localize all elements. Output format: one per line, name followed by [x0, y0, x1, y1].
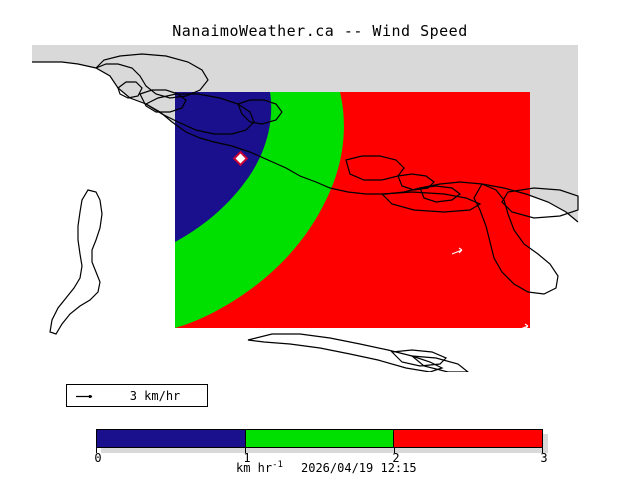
- timestamp-label: 2026/04/19 12:15: [301, 461, 417, 475]
- colorbar[interactable]: [96, 429, 543, 448]
- map-canvas[interactable]: [0, 42, 640, 372]
- map-svg: [0, 42, 640, 372]
- colorbar-units-exponent: -1: [272, 460, 283, 470]
- weather-map-page: NanaimoWeather.ca -- Wind Speed: [0, 0, 640, 480]
- vector-key-box: 3 km/hr: [66, 384, 208, 407]
- vector-key-label: 3 km/hr: [67, 389, 209, 403]
- colorbar-cell-1-2[interactable]: [246, 430, 394, 447]
- colorbar-tick-label-0: 0: [94, 451, 101, 465]
- colorbar-units-label: km hr-1: [236, 461, 283, 475]
- wind-speed-shading: [175, 92, 530, 328]
- colorbar-cell-2-3[interactable]: [394, 430, 542, 447]
- colorbar-units-text: km hr: [236, 461, 272, 475]
- colorbar-cell-0-1[interactable]: [97, 430, 245, 447]
- colorbar-tick-label-3: 3: [540, 451, 547, 465]
- page-title: NanaimoWeather.ca -- Wind Speed: [0, 22, 640, 40]
